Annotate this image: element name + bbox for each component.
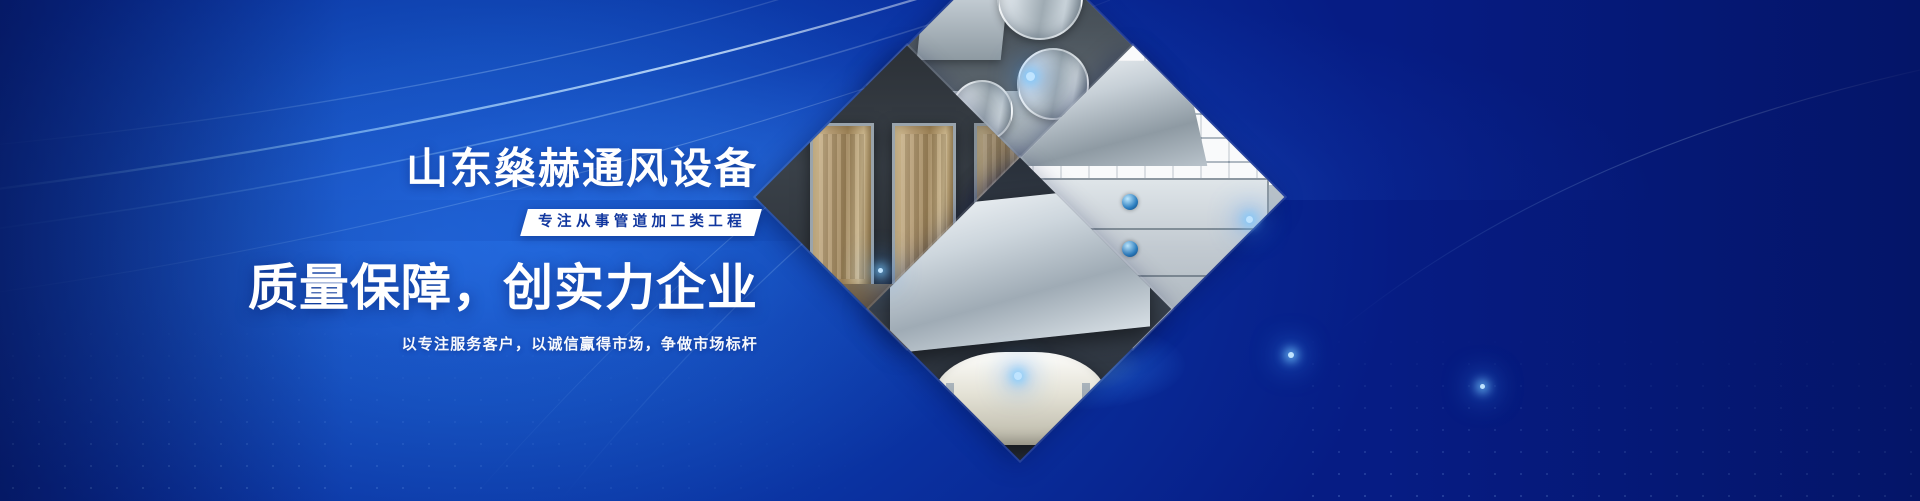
company-title: 山东燊赫通风设备 (406, 146, 758, 192)
hero-copy: 山东燊赫通风设备 专注从事管道加工类工程 质量保障，创实力企业 以专注服务客户，… (0, 0, 790, 501)
photo-collage (800, 38, 1240, 468)
badge-row: 专注从事管道加工类工程 (524, 209, 758, 236)
dot-grid-right (1300, 331, 1920, 501)
glow-dot (1026, 72, 1035, 81)
specialty-badge-label: 专注从事管道加工类工程 (538, 213, 746, 231)
glow-dot (1246, 216, 1253, 223)
specialty-badge: 专注从事管道加工类工程 (520, 209, 762, 236)
glow-dot (1288, 352, 1294, 358)
glow-dot (878, 268, 883, 273)
hero-banner: 山东燊赫通风设备 专注从事管道加工类工程 质量保障，创实力企业 以专注服务客户，… (0, 0, 1920, 501)
hero-tagline: 以专注服务客户，以诚信赢得市场，争做市场标杆 (402, 335, 758, 355)
glow-dot (1480, 384, 1485, 389)
glow-dot (1014, 372, 1022, 380)
hero-headline: 质量保障，创实力企业 (248, 260, 758, 316)
